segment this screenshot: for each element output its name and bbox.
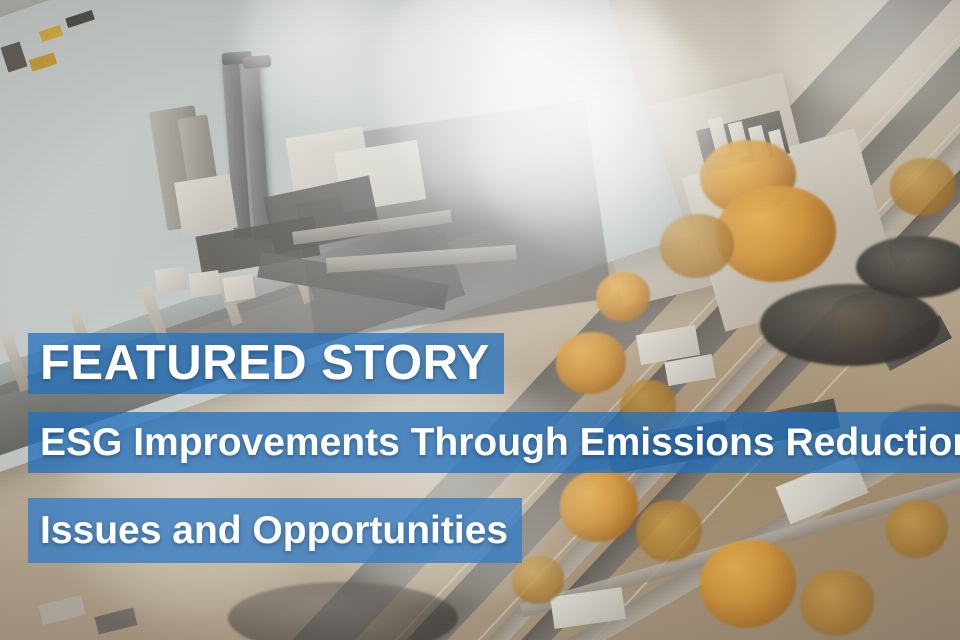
featured-story-title-banner[interactable]: ESG Improvements Through Emissions Reduc… [28,412,960,473]
container-block-1 [154,266,187,294]
steam-plume-secondary [470,10,730,260]
featured-story-subtitle-label: Issues and Opportunities [40,511,508,550]
featured-story-kicker-label: FEATURED STORY [40,339,490,388]
featured-story-kicker-banner[interactable]: FEATURED STORY [28,333,504,394]
featured-story-subtitle-banner[interactable]: Issues and Opportunities [28,498,522,563]
container-block-2 [188,270,221,298]
featured-story-hero: FEATURED STORY ESG Improvements Through … [0,0,960,640]
container-block-3 [222,274,255,302]
featured-story-title-label: ESG Improvements Through Emissions Reduc… [40,423,960,462]
machine-house-c [174,174,238,236]
